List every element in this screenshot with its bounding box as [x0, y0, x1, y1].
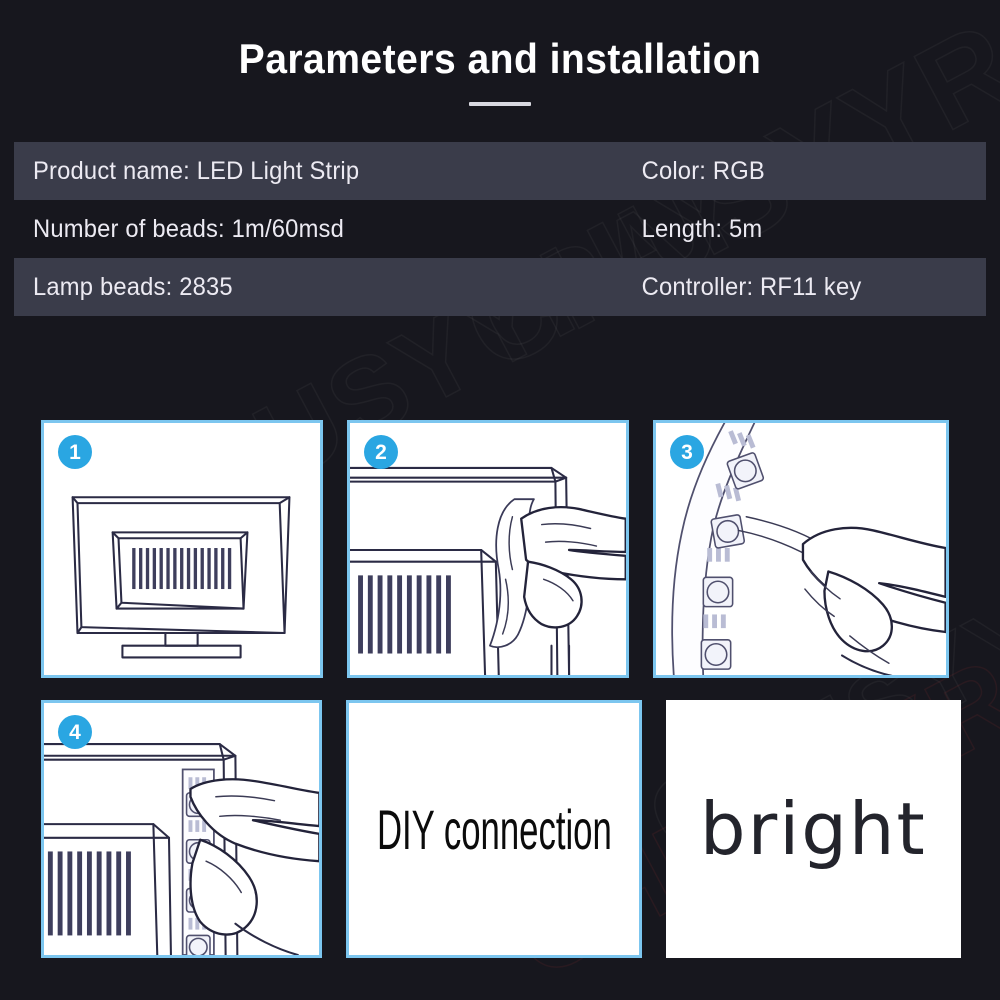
spec-cell-right: Controller: RF11 key [634, 273, 861, 302]
step-panel-peel-adhesive: 3 [653, 420, 949, 678]
step-panel-tv-front-view: 1 [41, 420, 323, 678]
step-panel-attach-strip: 4 [41, 700, 322, 958]
spec-row: Lamp beads: 2835 Controller: RF11 key [14, 258, 986, 316]
page-title-block: Parameters and installation [0, 38, 1000, 106]
diy-connection-label: DIY connection [377, 797, 612, 862]
step-badge: 1 [58, 435, 92, 469]
page-title: Parameters and installation [239, 38, 762, 80]
step-panel-diy-connection: DIY connection [346, 700, 641, 958]
spec-row: Number of beads: 1m/60msd Length: 5m [14, 200, 986, 258]
installation-steps: 1 [41, 420, 961, 958]
step-badge: 3 [670, 435, 704, 469]
step-badge: 2 [364, 435, 398, 469]
spec-table: Product name: LED Light Strip Color: RGB… [14, 142, 986, 316]
spec-cell-left: Product name: LED Light Strip [14, 157, 603, 186]
screen-stripes [132, 548, 231, 589]
spec-cell-right: Color: RGB [634, 157, 765, 186]
step-panel-clean-tv-back: 2 [347, 420, 629, 678]
bright-label: bright [700, 787, 927, 871]
spec-row: Product name: LED Light Strip Color: RGB [14, 142, 986, 200]
step-panel-bright-result: bright [666, 700, 961, 958]
spec-cell-right: Length: 5m [634, 215, 762, 244]
spec-cell-left: Number of beads: 1m/60msd [14, 215, 603, 244]
title-underline [469, 102, 531, 106]
spec-cell-left: Lamp beads: 2835 [14, 273, 603, 302]
step-badge: 4 [58, 715, 92, 749]
